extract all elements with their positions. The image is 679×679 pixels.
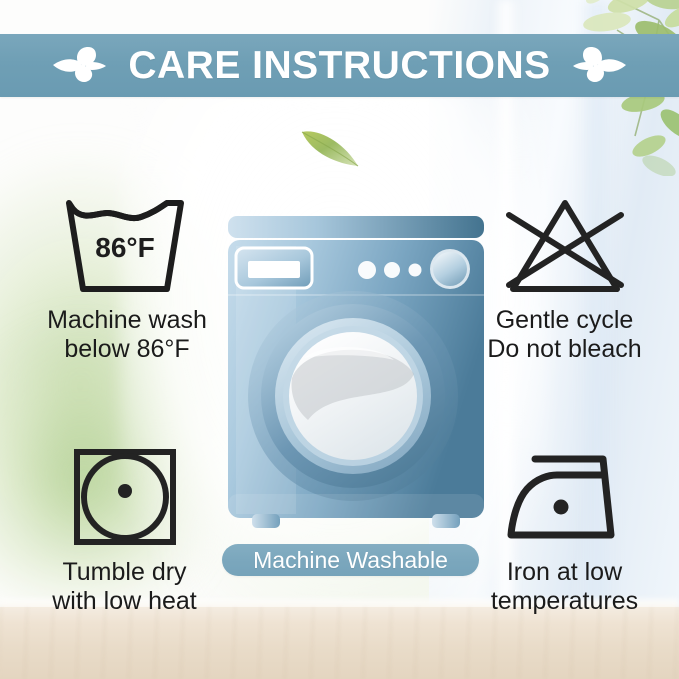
care-label-do-not-bleach: Gentle cycle Do not bleach: [487, 306, 641, 364]
wash-temperature-value: 86°F: [95, 232, 154, 263]
care-instructions-infographic: CARE INSTRUCTIONS 86°F Machine wash belo…: [0, 0, 679, 679]
fleur-de-lis-icon: [48, 42, 110, 90]
fleur-de-lis-icon: [569, 42, 631, 90]
header-banner: CARE INSTRUCTIONS: [0, 34, 679, 97]
badge-label: Machine Washable: [253, 549, 448, 572]
iron-icon: [497, 442, 633, 552]
care-label-tumble-dry: Tumble dry with low heat: [52, 558, 197, 616]
care-label-machine-wash: Machine wash below 86°F: [47, 306, 207, 364]
triangle-crossed-icon: [495, 190, 635, 300]
washing-machine-illustration: [222, 208, 490, 530]
machine-washable-badge: Machine Washable: [222, 544, 479, 576]
tumble-dry-icon: [70, 442, 180, 552]
care-label-iron: Iron at low temperatures: [491, 558, 638, 616]
page-title: CARE INSTRUCTIONS: [128, 46, 550, 85]
care-symbol-machine-wash: 86°F Machine wash below 86°F: [12, 190, 242, 364]
wash-tub-icon: 86°F: [57, 190, 197, 300]
wood-grain-texture: [0, 607, 679, 679]
leaf-icon: [296, 120, 366, 172]
care-symbol-tumble-dry: Tumble dry with low heat: [12, 442, 237, 616]
